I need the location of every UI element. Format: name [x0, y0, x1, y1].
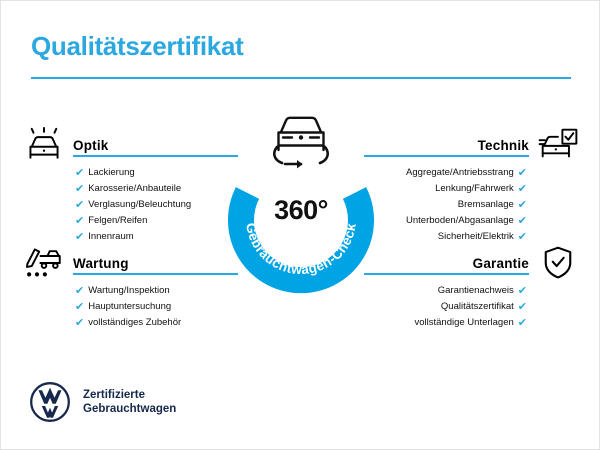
section-title-technik: Technik — [478, 138, 529, 153]
list-item: ✔vollständiges Zubehör — [23, 315, 238, 331]
vw-logo — [29, 381, 71, 423]
list-item: Aggregate/Antriebsstrang✔ — [364, 165, 579, 181]
section-header-wartung: Wartung — [23, 249, 238, 275]
title-divider — [31, 77, 571, 79]
section-divider-wartung — [73, 273, 238, 275]
list-item-label: Qualitätszertifikat — [441, 299, 514, 315]
check-icon: ✔ — [75, 200, 84, 211]
list-item: Unterboden/Abgasanlage✔ — [364, 213, 579, 229]
check-icon: ✔ — [75, 232, 84, 243]
check-icon: ✔ — [75, 302, 84, 313]
list-item-label: Sicherheit/Elektrik — [438, 229, 514, 245]
page-title: Qualitätszertifikat — [31, 31, 243, 62]
list-item: Sicherheit/Elektrik✔ — [364, 229, 579, 245]
check-icon: ✔ — [518, 286, 527, 297]
footer-text: Zertifizierte Gebrauchtwagen — [83, 388, 176, 416]
list-item-label: Karosserie/Anbauteile — [88, 181, 181, 197]
shield-check-icon — [537, 245, 579, 281]
check-icon: ✔ — [518, 302, 527, 313]
list-item-label: Innenraum — [88, 229, 133, 245]
check-icon: ✔ — [75, 286, 84, 297]
list-item: ✔Verglasung/Beleuchtung — [23, 197, 238, 213]
list-item-label: Bremsanlage — [458, 197, 514, 213]
list-item-label: Felgen/Reifen — [88, 213, 147, 229]
list-item: vollständige Unterlagen✔ — [364, 315, 579, 331]
section-header-technik: Technik — [364, 131, 579, 157]
list-item: ✔Karosserie/Anbauteile — [23, 181, 238, 197]
section-wartung: Wartung ✔Wartung/Inspektion ✔Hauptunters… — [23, 249, 238, 331]
list-item-label: vollständiges Zubehör — [88, 315, 181, 331]
check-icon: ✔ — [75, 318, 84, 329]
section-divider-technik — [364, 155, 529, 157]
section-title-optik: Optik — [73, 138, 109, 153]
section-garantie: Garantie Garantienachweis✔ Qualitätszert… — [364, 249, 579, 331]
checklist-garantie: Garantienachweis✔ Qualitätszertifikat✔ v… — [364, 283, 579, 331]
section-divider-garantie — [364, 273, 529, 275]
checklist-technik: Aggregate/Antriebsstrang✔ Lenkung/Fahrwe… — [364, 165, 579, 245]
check-icon: ✔ — [518, 184, 527, 195]
check-icon: ✔ — [75, 184, 84, 195]
car-service-pen-icon — [23, 245, 65, 281]
check-icon: ✔ — [75, 168, 84, 179]
car-checkbox-icon — [537, 127, 579, 163]
check-icon: ✔ — [518, 200, 527, 211]
check-icon: ✔ — [518, 232, 527, 243]
list-item: Qualitätszertifikat✔ — [364, 299, 579, 315]
list-item-label: vollständige Unterlagen — [414, 315, 513, 331]
check-icon: ✔ — [518, 216, 527, 227]
list-item: ✔Wartung/Inspektion — [23, 283, 238, 299]
footer-line-2: Gebrauchtwagen — [83, 402, 176, 416]
checklist-optik: ✔Lackierung ✔Karosserie/Anbauteile ✔Verg… — [23, 165, 238, 245]
footer-line-1: Zertifizierte — [83, 388, 176, 402]
list-item: ✔Felgen/Reifen — [23, 213, 238, 229]
section-optik: Optik ✔Lackierung ✔Karosserie/Anbauteile… — [23, 131, 238, 245]
check-icon: ✔ — [518, 168, 527, 179]
list-item-label: Hauptuntersuchung — [88, 299, 171, 315]
badge-center-label: 360° — [223, 195, 379, 226]
car-rotate-icon — [263, 111, 339, 169]
section-technik: Technik Aggregate/Antriebsstrang✔ Lenkun… — [364, 131, 579, 245]
checklist-wartung: ✔Wartung/Inspektion ✔Hauptuntersuchung ✔… — [23, 283, 238, 331]
list-item-label: Unterboden/Abgasanlage — [406, 213, 514, 229]
list-item-label: Wartung/Inspektion — [88, 283, 170, 299]
section-divider-optik — [73, 155, 238, 157]
check-icon: ✔ — [75, 216, 84, 227]
list-item: Bremsanlage✔ — [364, 197, 579, 213]
list-item-label: Lenkung/Fahrwerk — [435, 181, 514, 197]
footer-brand: Zertifizierte Gebrauchtwagen — [29, 381, 176, 423]
list-item-label: Garantienachweis — [438, 283, 514, 299]
section-header-optik: Optik — [23, 131, 238, 157]
list-item-label: Aggregate/Antriebsstrang — [406, 165, 514, 181]
list-item: Garantienachweis✔ — [364, 283, 579, 299]
certificate-canvas: Qualitätszertifikat Optik ✔Lackierung ✔K… — [0, 0, 600, 450]
list-item-label: Lackierung — [88, 165, 134, 181]
list-item-label: Verglasung/Beleuchtung — [88, 197, 191, 213]
list-item: ✔Hauptuntersuchung — [23, 299, 238, 315]
section-title-wartung: Wartung — [73, 256, 129, 271]
list-item: ✔Lackierung — [23, 165, 238, 181]
section-title-garantie: Garantie — [473, 256, 529, 271]
section-header-garantie: Garantie — [364, 249, 579, 275]
list-item: Lenkung/Fahrwerk✔ — [364, 181, 579, 197]
list-item: ✔Innenraum — [23, 229, 238, 245]
car-shine-icon — [23, 127, 65, 163]
check-icon: ✔ — [518, 318, 527, 329]
